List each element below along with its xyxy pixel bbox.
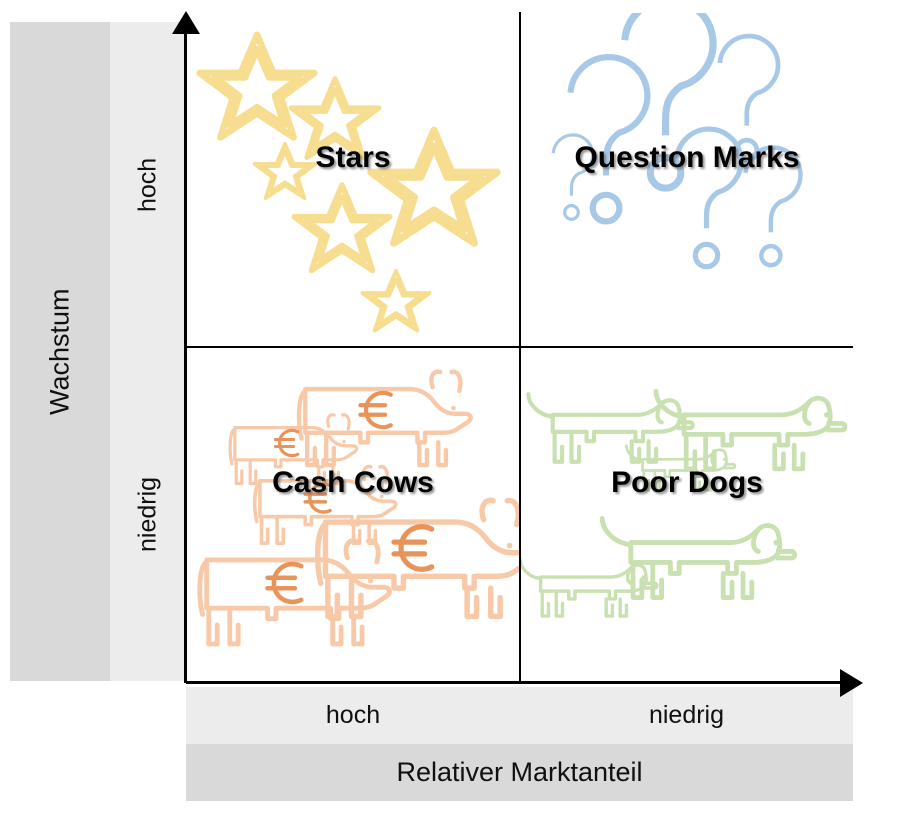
quadrant-label-question-marks: Question Marks	[521, 141, 853, 175]
quadrant-question-marks[interactable]: Question Marks	[521, 13, 853, 346]
x-axis-line	[186, 681, 846, 684]
star-icon	[363, 271, 430, 331]
y-axis-title: Wachstum	[10, 22, 110, 681]
dog-icon	[656, 391, 845, 469]
quadrant-label-cash-cows: Cash Cows	[187, 466, 519, 500]
cow-euro-icon	[318, 500, 519, 616]
dog-icon-group	[521, 348, 853, 681]
cow-euro-icon	[299, 372, 471, 465]
x-axis-title: Relativer Marktanteil	[186, 744, 853, 801]
y-axis-tick-hoch: hoch	[110, 22, 186, 347]
y-axis-tick-niedrig: niedrig	[110, 347, 186, 681]
quadrant-cash-cows[interactable]: Cash Cows	[187, 348, 519, 681]
bcg-matrix-diagram: Wachstum hoch niedrig hoch niedrig Relat…	[0, 0, 910, 821]
dog-icon	[528, 394, 693, 462]
cow-euro-icon	[200, 541, 390, 644]
dog-icon	[602, 518, 795, 597]
star-icon	[294, 185, 390, 271]
question-mark-icon-group	[521, 13, 853, 346]
star-icon	[200, 35, 315, 138]
question-mark-icon	[571, 57, 648, 221]
star-icon-group	[187, 13, 519, 346]
dog-icon	[521, 560, 657, 616]
x-axis-tick-niedrig: niedrig	[520, 687, 853, 744]
quadrant-poor-dogs[interactable]: Poor Dogs	[521, 348, 853, 681]
x-axis-tick-hoch: hoch	[186, 687, 520, 744]
cow-icon-group	[187, 348, 519, 681]
quadrant-label-stars: Stars	[187, 141, 519, 175]
quadrant-label-poor-dogs: Poor Dogs	[521, 466, 853, 500]
quadrant-stars[interactable]: Stars	[187, 13, 519, 346]
